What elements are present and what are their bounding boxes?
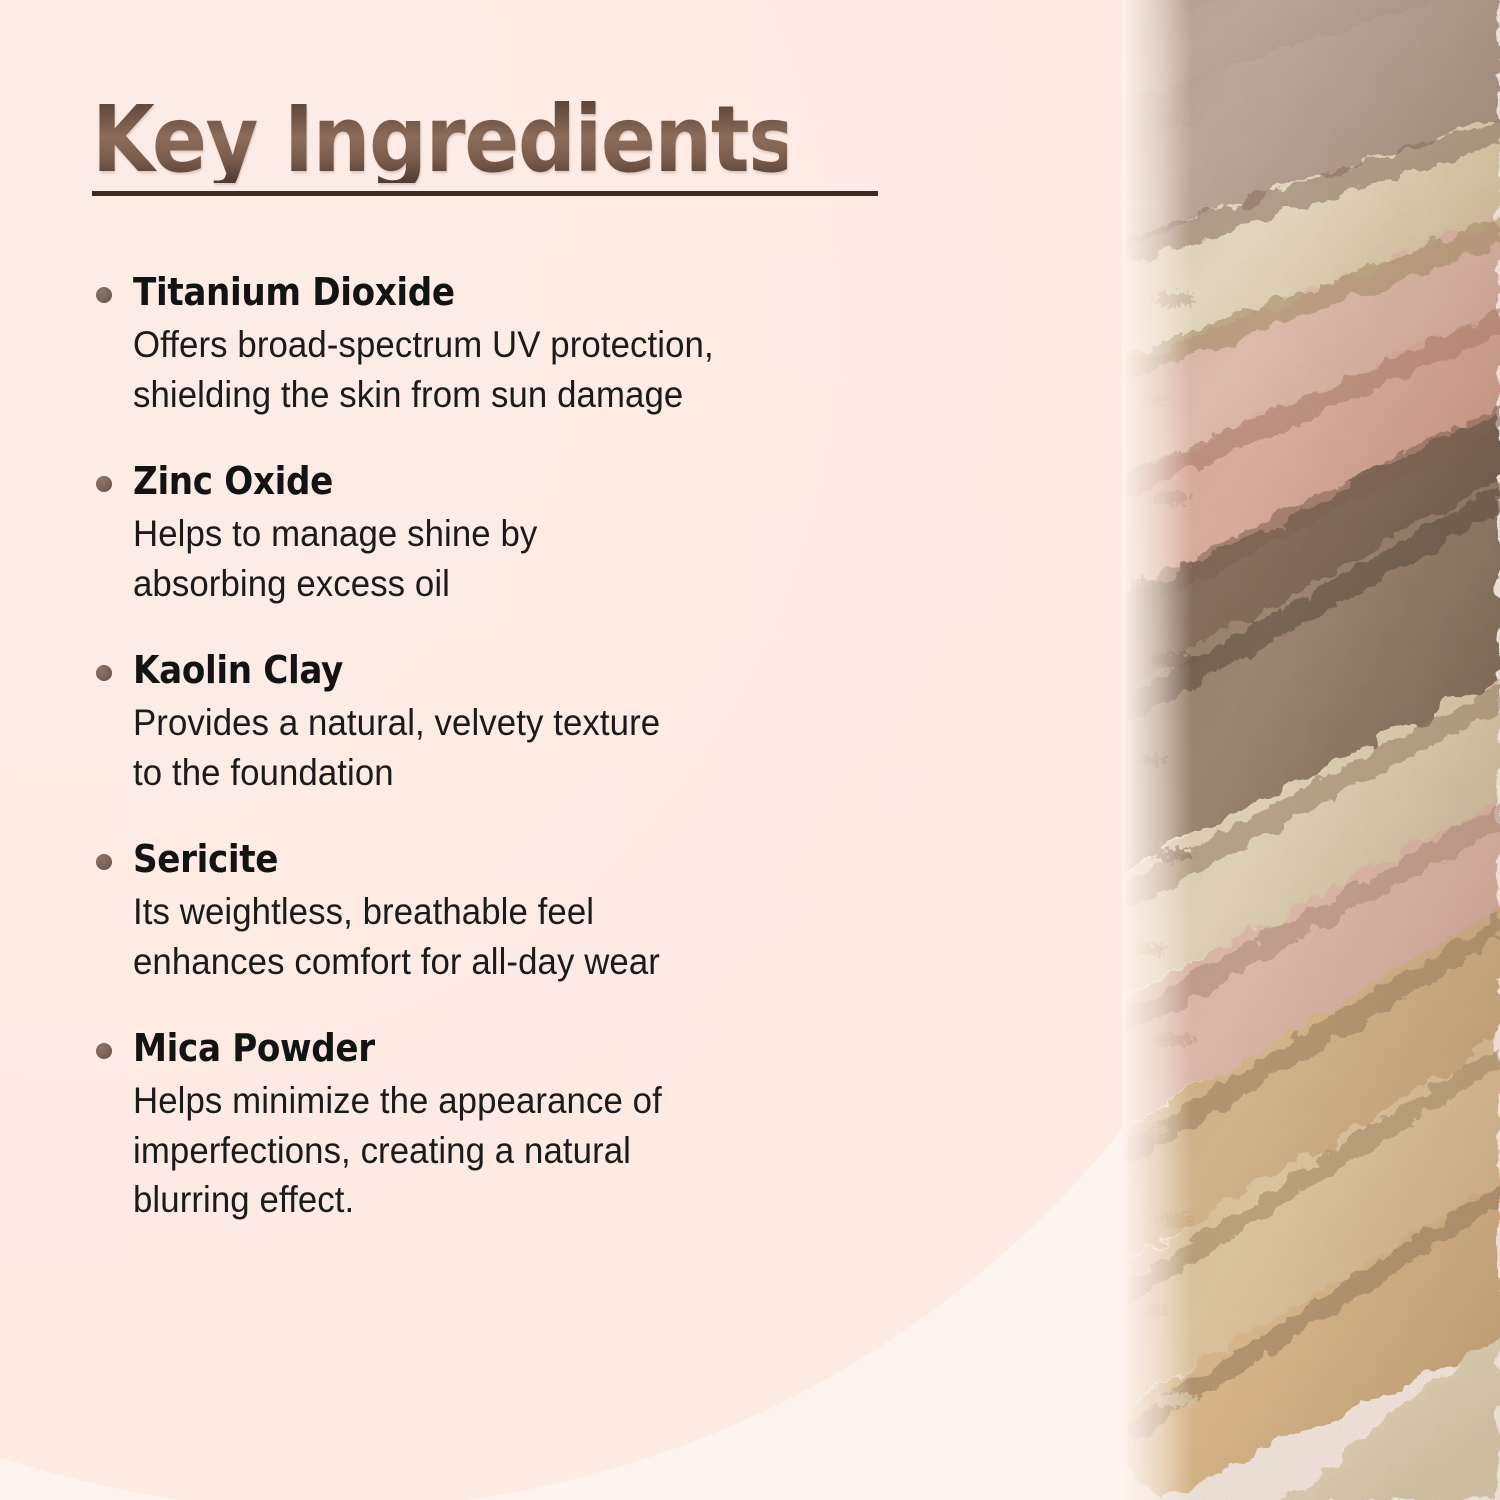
ingredients-list: Titanium Dioxide Offers broad-spectrum U… <box>92 270 992 1225</box>
ingredient-description-line: Its weightless, breathable feel <box>133 887 940 937</box>
bullet-dot-icon <box>96 287 112 303</box>
ingredient-description-line: to the foundation <box>133 748 940 798</box>
bullet-dot-icon <box>96 854 112 870</box>
ingredient-description-line: enhances comfort for all-day wear <box>133 937 940 987</box>
ingredient-name: Titanium Dioxide <box>133 270 906 315</box>
list-item: Mica Powder Helps minimize the appearanc… <box>92 1026 992 1225</box>
bullet-dot-icon <box>96 1043 112 1059</box>
bullet-dot-icon <box>96 665 112 681</box>
list-item: Zinc Oxide Helps to manage shine by abso… <box>92 459 992 608</box>
cosmetic-powder-swatch-image <box>1122 0 1500 1500</box>
ingredient-description: Helps minimize the appearance of imperfe… <box>133 1076 940 1225</box>
list-item: Kaolin Clay Provides a natural, velvety … <box>92 648 992 797</box>
ingredient-name: Kaolin Clay <box>133 648 906 693</box>
ingredient-description-line: Helps to manage shine by <box>133 509 940 559</box>
ingredient-description: Helps to manage shine by absorbing exces… <box>133 509 940 608</box>
ingredient-description: Provides a natural, velvety texture to t… <box>133 698 940 797</box>
ingredient-description-line: Offers broad-spectrum UV protection, <box>133 320 940 370</box>
ingredients-panel: Key Ingredients Titanium Dioxide Offers … <box>0 0 1080 1500</box>
page-title: Key Ingredients <box>92 96 787 183</box>
bullet-dot-icon <box>96 476 112 492</box>
ingredient-name: Mica Powder <box>133 1026 906 1071</box>
ingredient-description-line: Provides a natural, velvety texture <box>133 698 940 748</box>
title-block: Key Ingredients <box>92 96 882 196</box>
ingredient-name: Zinc Oxide <box>133 459 906 504</box>
ingredient-description-line: Helps minimize the appearance of <box>133 1076 940 1126</box>
ingredient-description: Its weightless, breathable feel enhances… <box>133 887 940 986</box>
ingredient-description-line: shielding the skin from sun damage <box>133 370 940 420</box>
list-item: Sericite Its weightless, breathable feel… <box>92 837 992 986</box>
ingredient-description-line: blurring effect. <box>133 1175 940 1225</box>
ingredient-name: Sericite <box>133 837 906 882</box>
powder-swatch-illustration <box>1122 0 1500 1500</box>
list-item: Titanium Dioxide Offers broad-spectrum U… <box>92 270 992 419</box>
ingredient-description: Offers broad-spectrum UV protection, shi… <box>133 320 940 419</box>
ingredient-description-line: imperfections, creating a natural <box>133 1126 940 1176</box>
ingredient-description-line: absorbing excess oil <box>133 559 940 609</box>
